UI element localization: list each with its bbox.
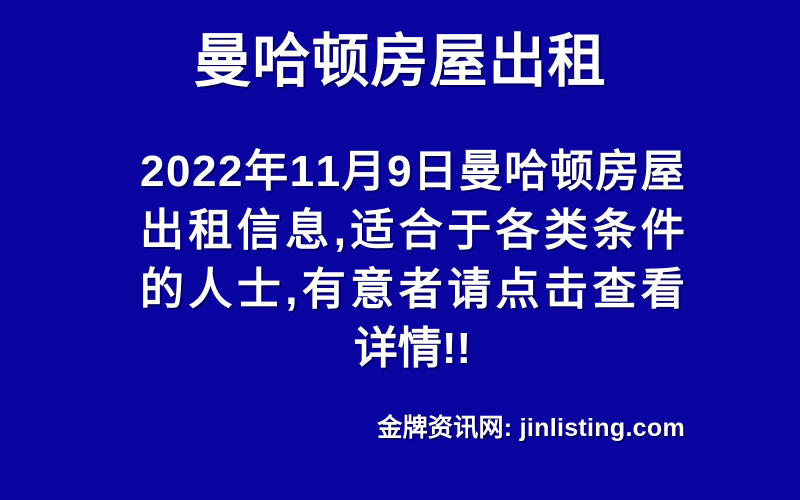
body-line-4: 详情!!	[140, 319, 685, 378]
body-char: 0	[166, 142, 190, 201]
body-char: 者	[399, 260, 443, 319]
body-char: ,	[334, 201, 346, 260]
body-char: 击	[544, 260, 588, 319]
poster-body-area: 2022年11月9日曼哈顿房屋 出租信息,适合于各类条件 的人士,有意者请点击查…	[140, 142, 685, 378]
body-line-1: 2022年11月9日曼哈顿房屋	[140, 142, 685, 201]
body-char: 类	[544, 201, 588, 260]
body-char: 屋	[641, 142, 685, 201]
body-char: 的	[140, 260, 184, 319]
body-char: 1	[316, 142, 340, 201]
poster-title-area: 曼哈顿房屋出租	[0, 28, 800, 96]
body-line-2: 出租信息,适合于各类条件	[140, 201, 685, 260]
body-char: 出	[140, 201, 184, 260]
body-char: 条	[592, 201, 636, 260]
body-char: 月	[342, 142, 386, 201]
poster-canvas: 曼哈顿房屋出租 2022年11月9日曼哈顿房屋 出租信息,适合于各类条件 的人士…	[0, 0, 800, 500]
page-title: 曼哈顿房屋出租	[193, 28, 606, 96]
body-char: 请	[447, 260, 491, 319]
body-char: 曼	[459, 142, 503, 201]
body-char: 租	[188, 201, 232, 260]
body-char: 1	[290, 142, 314, 201]
body-char: 息	[285, 201, 329, 260]
body-char: 哈	[504, 142, 548, 201]
body-char: 9	[387, 142, 411, 201]
body-char: 顿	[550, 142, 594, 201]
body-char: 查	[592, 260, 636, 319]
body-char: 点	[496, 260, 540, 319]
site-credit: 金牌资讯网: jinlisting.com	[377, 412, 685, 444]
body-char: 于	[447, 201, 491, 260]
body-char: 有	[302, 260, 346, 319]
body-char: 2	[192, 142, 216, 201]
body-char: 2	[218, 142, 242, 201]
body-char: 房	[595, 142, 639, 201]
body-line-3: 的人士,有意者请点击查看	[140, 260, 685, 319]
body-char: 适	[350, 201, 394, 260]
body-char: 2	[140, 142, 164, 201]
body-char: 信	[237, 201, 281, 260]
body-char: ,	[285, 260, 297, 319]
poster-footer-area: 金牌资讯网: jinlisting.com	[140, 412, 685, 444]
body-char: 件	[641, 201, 685, 260]
body-char: 年	[244, 142, 288, 201]
body-char: 各	[496, 201, 540, 260]
body-char: 合	[399, 201, 443, 260]
body-char: 人	[188, 260, 232, 319]
body-char: 士	[237, 260, 281, 319]
body-char: 意	[350, 260, 394, 319]
body-char: 看	[641, 260, 685, 319]
body-char: 日	[413, 142, 457, 201]
